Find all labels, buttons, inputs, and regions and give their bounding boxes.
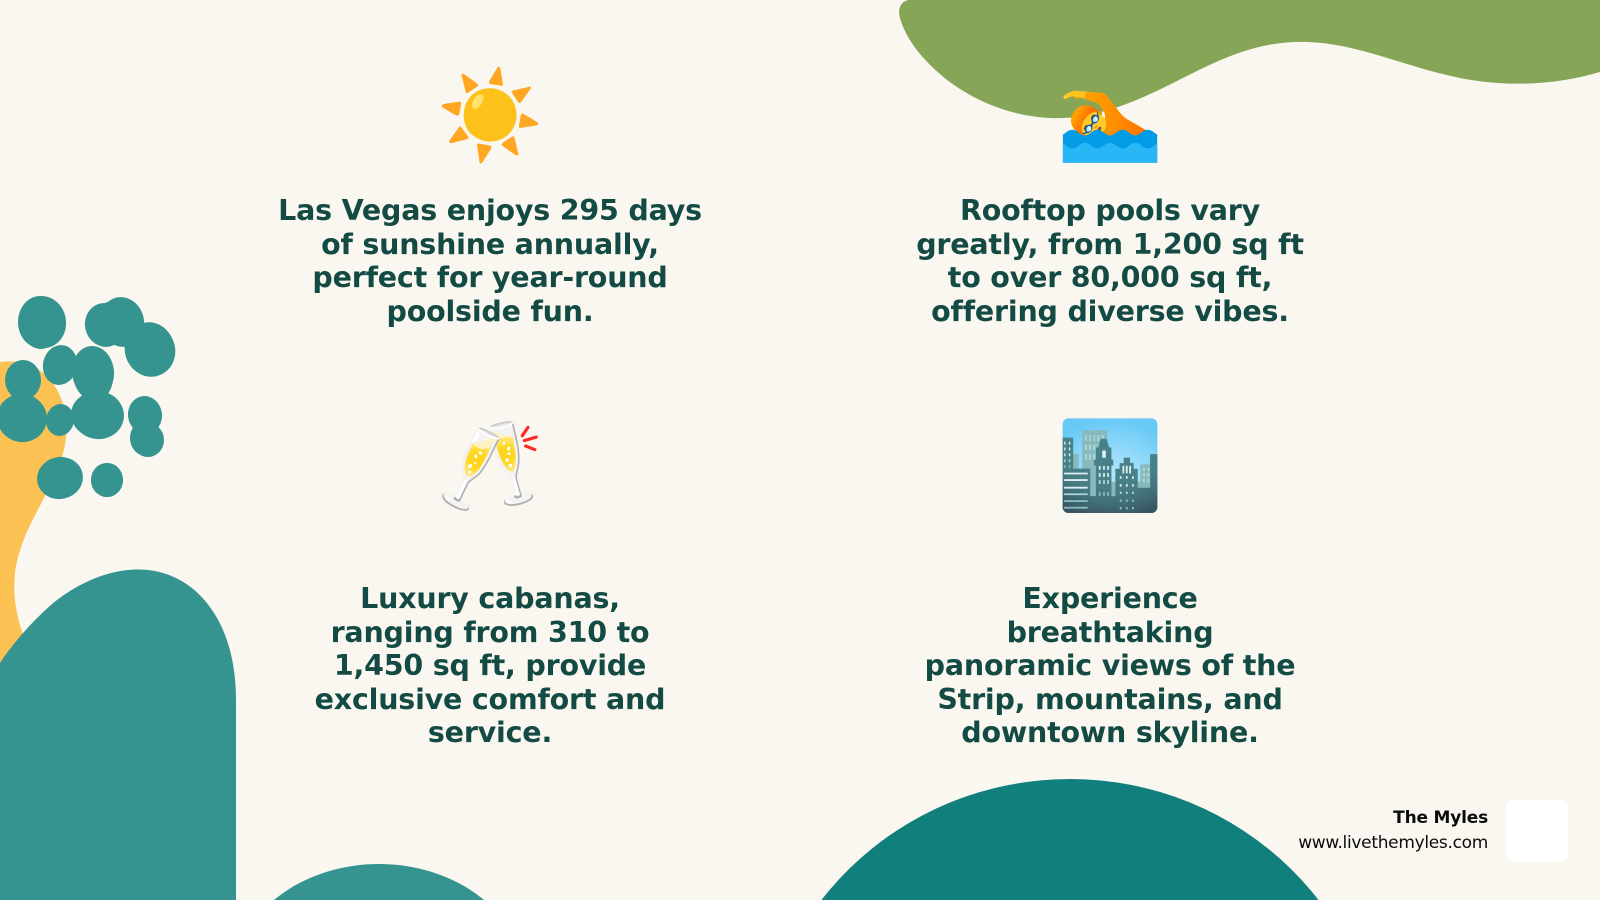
fact-card-cabanas: 🥂 Luxury cabanas, ranging from 310 to 1,… [180, 384, 800, 750]
cityscape-icon: 🏙️ [1056, 410, 1163, 522]
fact-card-pool-size-text: Rooftop pools vary greatly, from 1,200 s… [898, 194, 1323, 329]
fact-card-views: 🏙️ Experience breathtaking panoramic vie… [800, 384, 1420, 750]
brand-logo [1506, 800, 1568, 862]
fact-card-cabanas-text: Luxury cabanas, ranging from 310 to 1,45… [300, 582, 680, 750]
fact-card-sunshine: ☀️ Las Vegas enjoys 295 days of sunshine… [180, 60, 800, 384]
brand-text-block: The Myles www.livethemyles.com [1298, 808, 1488, 854]
infographic-canvas: ☀️ Las Vegas enjoys 295 days of sunshine… [0, 0, 1600, 900]
fact-card-sunshine-text: Las Vegas enjoys 295 days of sunshine an… [275, 194, 705, 329]
fact-card-grid: ☀️ Las Vegas enjoys 295 days of sunshine… [0, 0, 1600, 900]
brand-url[interactable]: www.livethemyles.com [1298, 833, 1488, 854]
sun-icon: ☀️ [436, 60, 543, 172]
brand-name: The Myles [1298, 808, 1488, 829]
brand-footer: The Myles www.livethemyles.com [1298, 800, 1568, 862]
swimmer-icon: 🏊 [1056, 60, 1163, 172]
fact-card-views-text: Experience breathtaking panoramic views … [924, 582, 1296, 750]
clinking-glasses-icon: 🥂 [436, 410, 543, 522]
fact-card-pool-size: 🏊 Rooftop pools vary greatly, from 1,200… [800, 60, 1420, 384]
